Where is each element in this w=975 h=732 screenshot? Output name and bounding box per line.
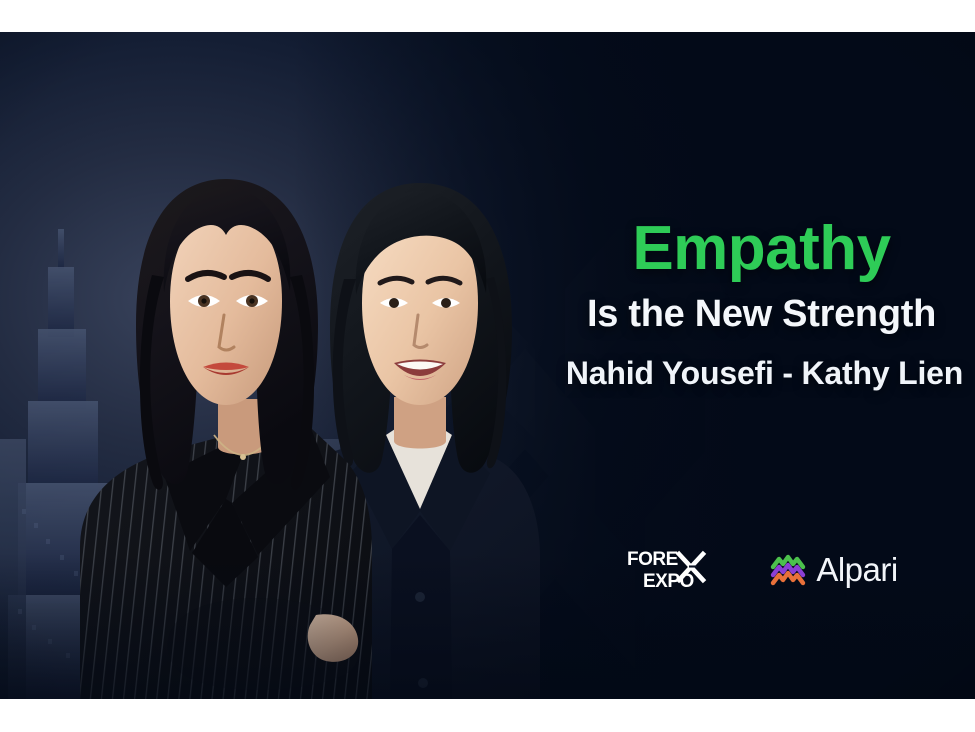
forex-expo-logo: FORE EXPO [627, 546, 725, 592]
alpari-logo: Alpari [769, 550, 897, 588]
headline-highlight: Empathy [560, 218, 963, 280]
page-canvas: Empathy Is the New Strength Nahid Yousef… [0, 0, 975, 732]
speakers-photo-group [0, 79, 600, 699]
banner-content: Empathy Is the New Strength Nahid Yousef… [560, 32, 975, 699]
speaker-names: Nahid Yousefi - Kathy Lien [558, 357, 971, 389]
svg-text:FORE: FORE [627, 549, 678, 570]
event-promo-banner: Empathy Is the New Strength Nahid Yousef… [0, 32, 975, 699]
alpari-wordmark: Alpari [816, 553, 897, 586]
sponsor-logo-row: FORE EXPO [560, 537, 965, 601]
alpari-mark-icon [769, 550, 807, 588]
headline-subtitle: Is the New Strength [554, 295, 969, 333]
